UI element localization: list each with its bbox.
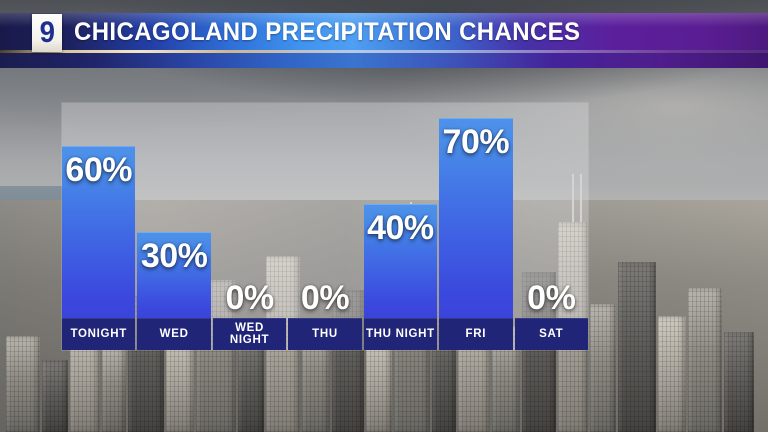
column-period-label: SAT bbox=[515, 318, 588, 350]
station-logo-number: 9 bbox=[40, 18, 54, 48]
bar-wrap: 70% bbox=[439, 103, 512, 318]
bar-value-label: 60% bbox=[62, 150, 135, 190]
bar-value-label: 0% bbox=[213, 278, 286, 318]
bar-wrap: 0% bbox=[515, 103, 588, 318]
column-period-label: THU bbox=[288, 318, 361, 350]
bar-value-label: 0% bbox=[288, 278, 361, 318]
precipitation-bar-chart: 60%TONIGHT30%WED0%WED NIGHT0%THU40%THU N… bbox=[62, 103, 588, 350]
header-secondary-band bbox=[0, 53, 768, 68]
chart-column: 70%FRI bbox=[439, 103, 512, 350]
bar-value-label: 0% bbox=[515, 278, 588, 318]
bar-value-label: 30% bbox=[137, 236, 210, 276]
bar-wrap: 60% bbox=[62, 103, 135, 318]
chart-column: 60%TONIGHT bbox=[62, 103, 135, 350]
chart-column: 0%WED NIGHT bbox=[213, 103, 286, 350]
chart-column: 0%SAT bbox=[515, 103, 588, 350]
chart-column: 30%WED bbox=[137, 103, 210, 350]
precipitation-chart-panel: 60%TONIGHT30%WED0%WED NIGHT0%THU40%THU N… bbox=[62, 103, 588, 350]
column-period-label: THU NIGHT bbox=[364, 318, 437, 350]
column-period-label: WED bbox=[137, 318, 210, 350]
column-period-label: WED NIGHT bbox=[213, 318, 286, 350]
precipitation-bar: 30% bbox=[137, 232, 210, 318]
precipitation-bar: 40% bbox=[364, 204, 437, 318]
column-period-label: FRI bbox=[439, 318, 512, 350]
page-title: CHICAGOLAND PRECIPITATION CHANCES bbox=[74, 13, 580, 51]
chart-column: 0%THU bbox=[288, 103, 361, 350]
precipitation-bar: 60% bbox=[62, 146, 135, 318]
column-period-label: TONIGHT bbox=[62, 318, 135, 350]
bar-wrap: 40% bbox=[364, 103, 437, 318]
station-logo: 9 bbox=[32, 14, 62, 52]
bar-value-label: 70% bbox=[439, 122, 512, 162]
precipitation-bar: 70% bbox=[439, 118, 512, 318]
chart-column: 40%THU NIGHT bbox=[364, 103, 437, 350]
weather-graphic-screen: 9 CHICAGOLAND PRECIPITATION CHANCES 60%T… bbox=[0, 0, 768, 432]
bar-wrap: 30% bbox=[137, 103, 210, 318]
bar-value-label: 40% bbox=[364, 208, 437, 248]
bar-wrap: 0% bbox=[213, 103, 286, 318]
bar-wrap: 0% bbox=[288, 103, 361, 318]
